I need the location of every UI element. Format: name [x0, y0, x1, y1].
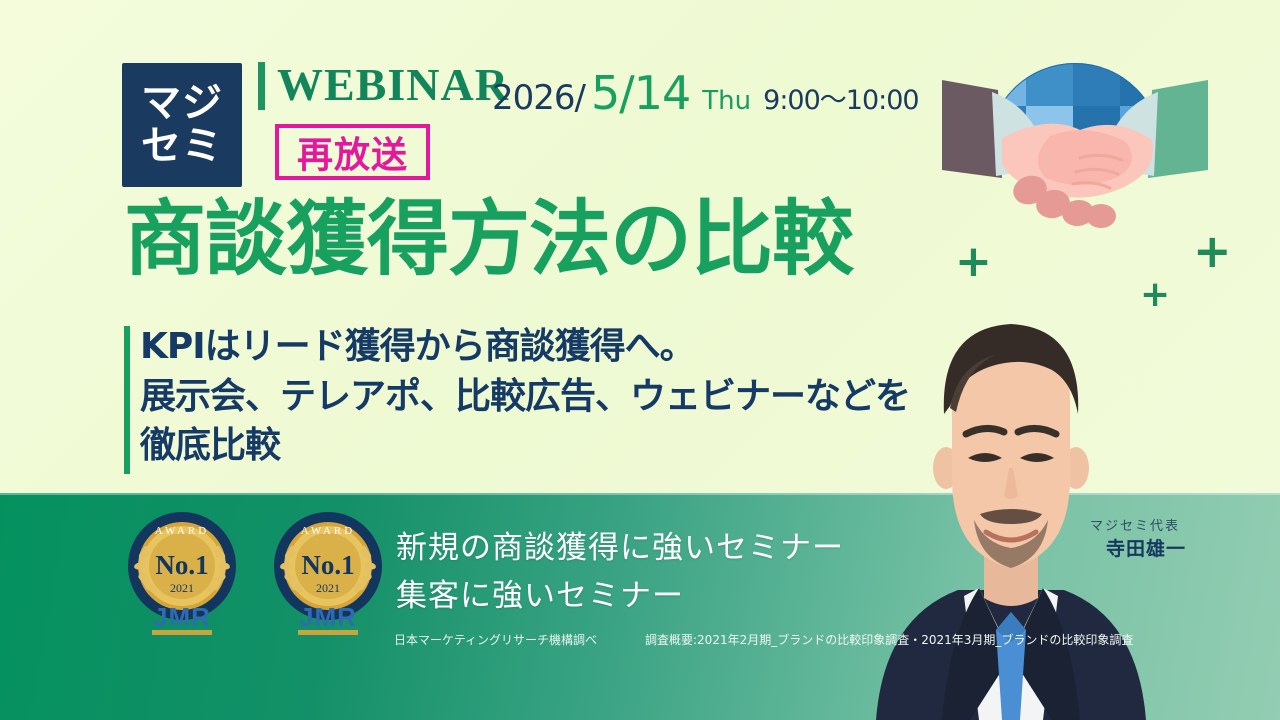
award-medals: AWARD No.1 2021 JMR	[118, 508, 392, 640]
band-headline: 新規の商談獲得に強いセミナー	[396, 524, 844, 572]
fineprint-source: 日本マーケティングリサーチ機構調べ	[394, 631, 597, 648]
award-medal-icon: AWARD No.1 2021 JMR	[264, 508, 392, 640]
webinar-divider-bar	[258, 62, 265, 110]
svg-text:AWARD: AWARD	[155, 525, 209, 537]
webinar-banner: + + + マジ セミ WEBINAR 2026/ 5/14 Thu 9:00〜…	[0, 0, 1280, 720]
date-day-of-week: Thu	[702, 86, 751, 116]
presenter-photo	[846, 282, 1176, 720]
plus-decoration-icon: +	[1193, 228, 1232, 274]
majisemi-logo: マジ セミ	[122, 63, 242, 187]
webinar-datetime: 2026/ 5/14 Thu 9:00〜10:00	[492, 66, 919, 120]
page-title: 商談獲得方法の比較	[124, 196, 853, 285]
date-year: 2026/	[492, 78, 585, 118]
presenter-name: 寺田雄一	[1106, 534, 1186, 561]
rerun-badge: 再放送	[275, 124, 430, 180]
subtitle-block: KPIはリード獲得から商談獲得へ。 展示会、テレアポ、比較広告、ウェビナーなどを…	[140, 322, 910, 471]
fineprint-survey-details: 調査概要:2021年2月期_ブランドの比較印象調査・2021年3月期_ブランドの…	[645, 631, 1133, 648]
webinar-label: WEBINAR	[277, 58, 509, 111]
presenter-role: マジセミ代表	[1090, 515, 1180, 534]
logo-line-2: セミ	[141, 125, 223, 168]
subtitle-line: 展示会、テレアポ、比較広告、ウェビナーなどを	[140, 372, 910, 422]
band-headline: 集客に強いセミナー	[396, 572, 844, 620]
subtitle-line: 徹底比較	[140, 421, 910, 471]
date-month-day: 5/14	[591, 66, 690, 120]
plus-decoration-icon: +	[955, 240, 992, 284]
subtitle-accent-bar	[124, 326, 130, 474]
logo-line-1: マジ	[141, 82, 223, 125]
award-medal-icon: AWARD No.1 2021 JMR	[118, 508, 246, 640]
svg-text:JMR: JMR	[299, 602, 357, 632]
svg-text:2021: 2021	[170, 581, 194, 595]
subtitle-line: KPIはリード獲得から商談獲得へ。	[140, 322, 910, 372]
rerun-badge-label: 再放送	[297, 126, 408, 178]
band-headline-block: 新規の商談獲得に強いセミナー 集客に強いセミナー	[396, 524, 844, 620]
svg-text:No.1: No.1	[155, 550, 208, 580]
svg-text:AWARD: AWARD	[301, 525, 355, 537]
svg-text:No.1: No.1	[301, 550, 354, 580]
svg-text:2021: 2021	[316, 581, 340, 595]
svg-text:JMR: JMR	[153, 602, 211, 632]
date-time-range: 9:00〜10:00	[763, 78, 918, 117]
